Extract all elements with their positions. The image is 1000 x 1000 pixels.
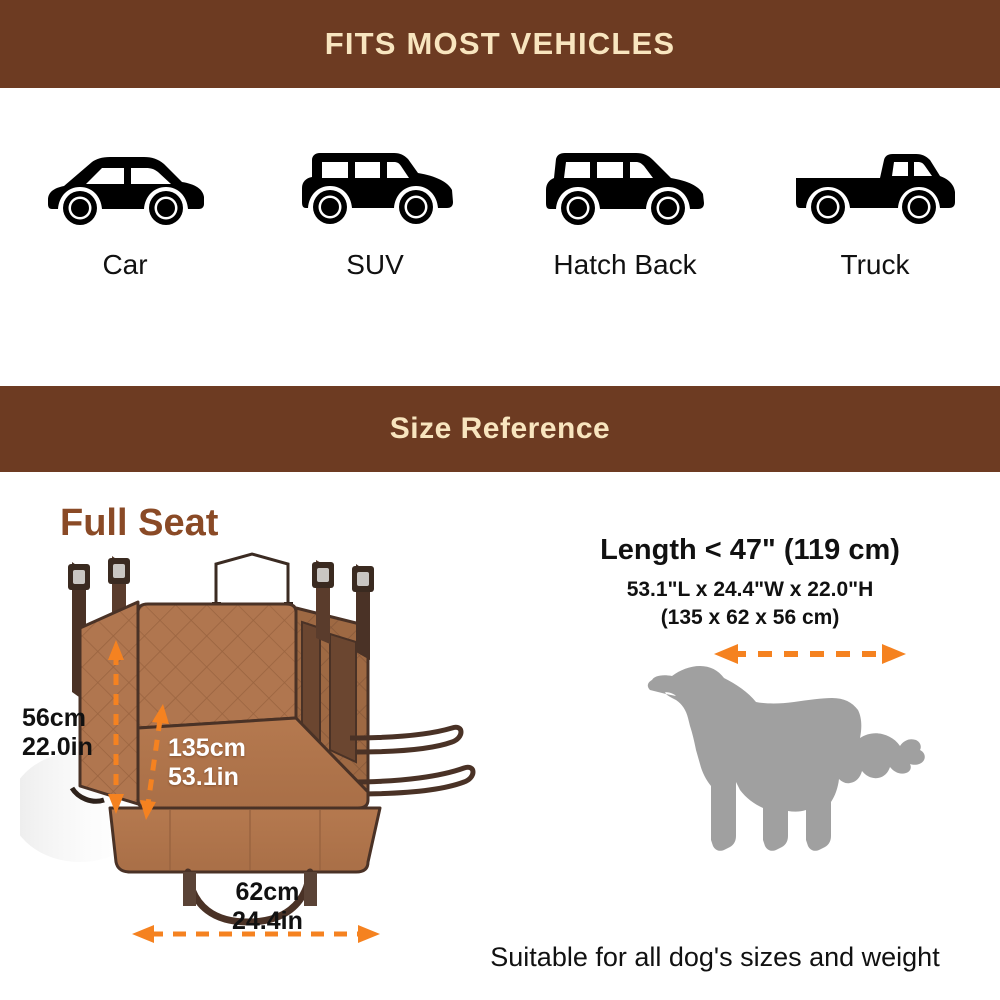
vehicle-types-row: Car SUV xyxy=(0,140,1000,320)
suv-icon xyxy=(290,140,460,235)
dog-size-block: Length < 47" (119 cm) 53.1"L x 24.4"W x … xyxy=(500,522,1000,972)
infographic-page: FITS MOST VEHICLES Car xyxy=(0,0,1000,1000)
hatchback-icon xyxy=(538,140,713,235)
full-seat-title: Full Seat xyxy=(60,502,218,545)
left-side-flap xyxy=(80,602,138,804)
measure-width-in: 24.4in xyxy=(232,907,303,936)
vehicle-label-suv: SUV xyxy=(346,249,404,281)
measure-length-in: 53.1in xyxy=(168,763,246,792)
measure-height-in: 22.0in xyxy=(22,733,93,762)
dog-arrow-head-left xyxy=(714,644,738,664)
vehicle-label-car: Car xyxy=(102,249,147,281)
measure-height-label: 56cm 22.0in xyxy=(22,704,93,762)
truck-icon xyxy=(788,140,963,235)
measure-width-cm: 62cm xyxy=(232,878,303,907)
dog-length-title: Length < 47" (119 cm) xyxy=(500,534,1000,567)
vehicle-item-hatchback: Hatch Back xyxy=(510,140,740,281)
measure-length-cm: 135cm xyxy=(168,734,246,763)
vehicle-item-suv: SUV xyxy=(260,140,490,281)
banner-vehicles-title: FITS MOST VEHICLES xyxy=(325,26,676,62)
dog-silhouette-shape xyxy=(651,666,924,851)
measure-width-label: 62cm 24.4in xyxy=(232,878,303,936)
width-arrow-head-right xyxy=(358,925,380,943)
banner-size-title: Size Reference xyxy=(390,412,610,446)
width-arrow-head-left xyxy=(132,925,154,943)
size-reference-banner: Size Reference xyxy=(0,386,1000,472)
vehicle-label-hatchback: Hatch Back xyxy=(553,249,696,281)
vehicle-label-truck: Truck xyxy=(841,249,910,281)
dog-arrow-head-right xyxy=(882,644,906,664)
size-reference-section: Full Seat xyxy=(0,472,1000,1000)
suitable-caption: Suitable for all dog's sizes and weight xyxy=(430,942,1000,973)
car-icon xyxy=(40,140,210,235)
dog-dims-metric: (135 x 62 x 56 cm) xyxy=(500,606,1000,630)
dog-silhouette-figure xyxy=(610,640,940,915)
dog-dims-imperial: 53.1"L x 24.4"W x 22.0"H xyxy=(500,578,1000,602)
measure-length-label: 135cm 53.1in xyxy=(168,734,246,792)
fits-most-vehicles-banner: FITS MOST VEHICLES xyxy=(0,0,1000,88)
vehicle-item-car: Car xyxy=(10,140,240,281)
measure-height-cm: 56cm xyxy=(22,704,93,733)
front-flap xyxy=(110,808,380,872)
vehicle-item-truck: Truck xyxy=(760,140,990,281)
